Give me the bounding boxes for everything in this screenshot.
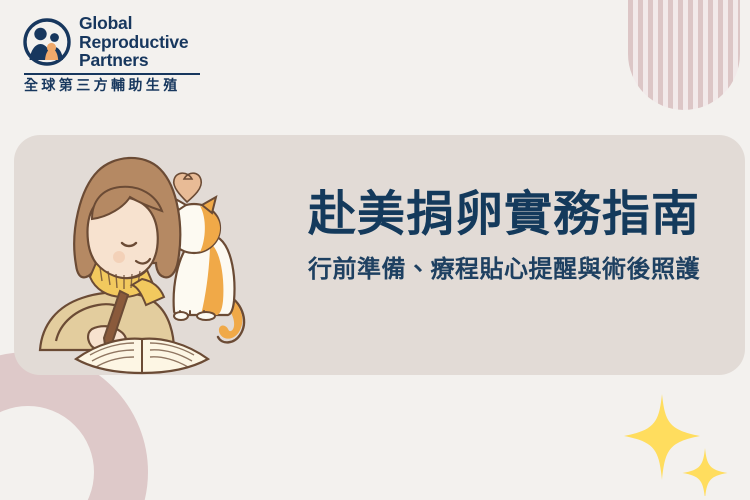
- logo-line-1: Global: [79, 14, 188, 33]
- family-circle-logo-icon: [22, 17, 72, 67]
- logo-row: Global Reproductive Partners: [22, 14, 217, 70]
- page-title: 赴美捐卵實務指南: [278, 186, 730, 242]
- logo-wordmark: Global Reproductive Partners: [79, 14, 188, 70]
- logo-divider: [24, 73, 200, 75]
- woman-writing-with-cat-illustration: [14, 135, 262, 375]
- headline-block: 赴美捐卵實務指南 行前準備、療程貼心提醒與術後照護: [278, 186, 730, 284]
- sparkle-small-icon: [683, 448, 728, 496]
- page-subtitle: 行前準備、療程貼心提醒與術後照護: [278, 254, 730, 284]
- brand-logo[interactable]: Global Reproductive Partners 全球第三方輔助生殖: [22, 14, 217, 106]
- logo-line-2: Reproductive: [79, 33, 188, 52]
- illustration-woman: [40, 158, 180, 351]
- logo-line-3: Partners: [79, 51, 188, 70]
- illustration-heart-icon: [174, 173, 202, 202]
- sparkle-group: [608, 392, 738, 496]
- poster-canvas: Global Reproductive Partners 全球第三方輔助生殖 赴…: [0, 0, 750, 500]
- striped-arch-shape: [628, 0, 740, 110]
- sparkle-large-icon: [624, 394, 700, 480]
- logo-tagline-cn: 全球第三方輔助生殖: [24, 78, 200, 94]
